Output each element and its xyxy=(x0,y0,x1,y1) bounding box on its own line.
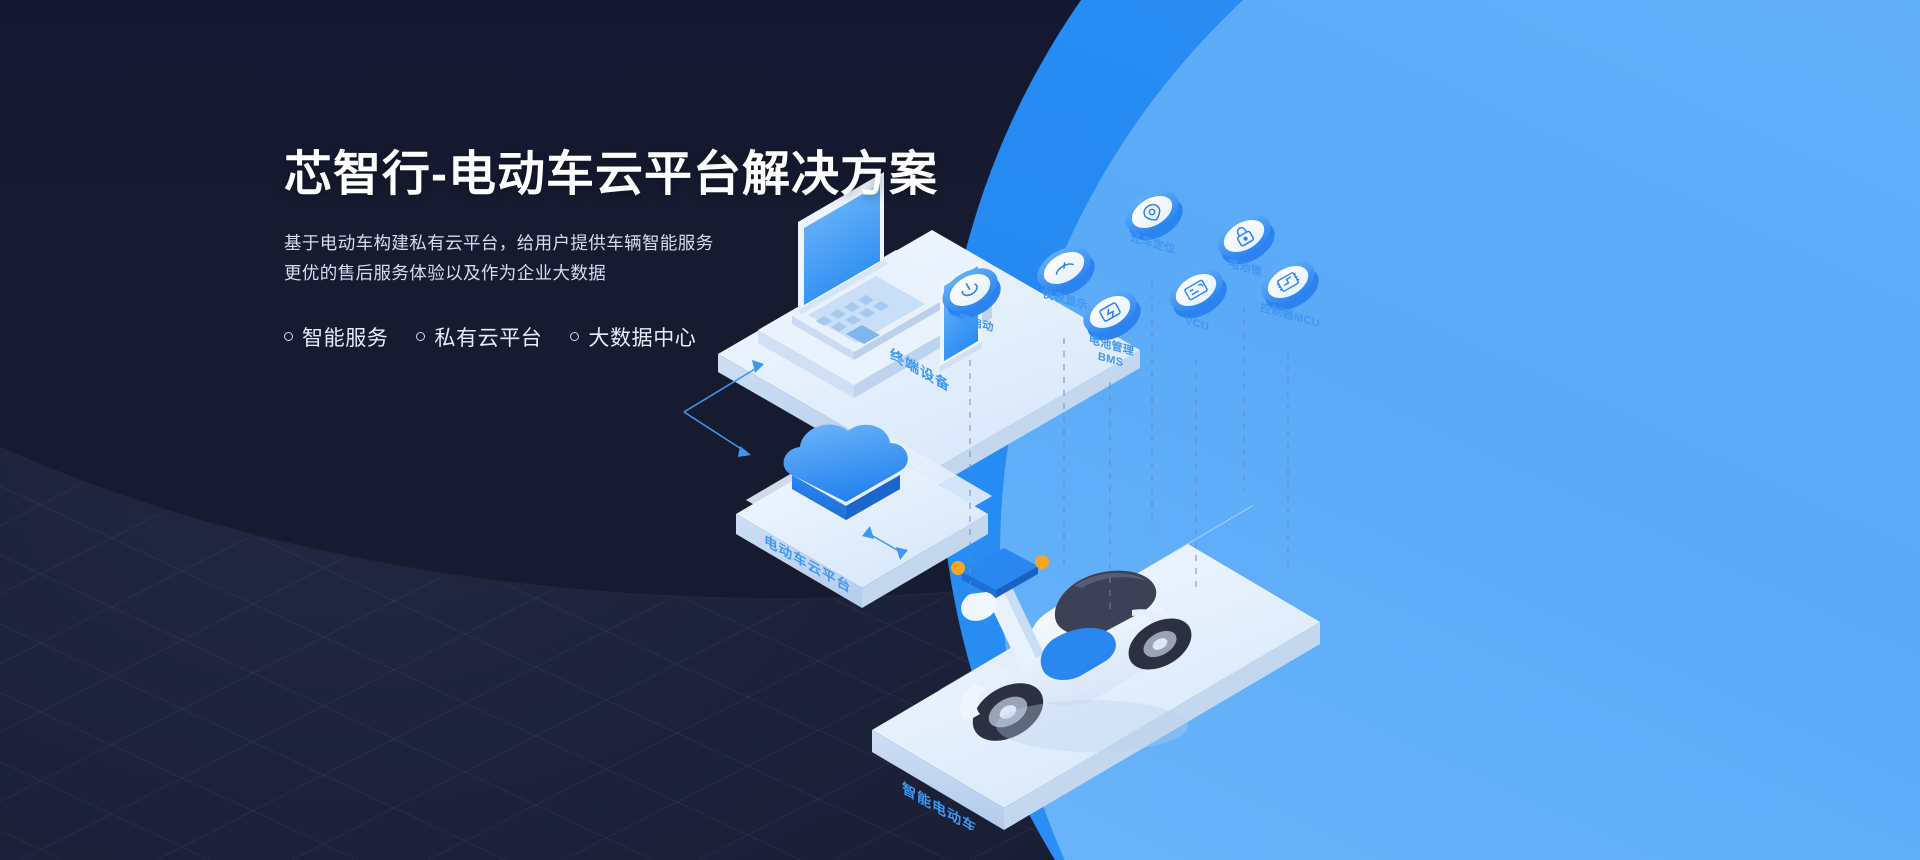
circle-bullet-icon xyxy=(570,332,579,341)
solution-banner: 芯智行-电动车云平台解决方案 基于电动车构建私有云平台，给用户提供车辆智能服务 … xyxy=(0,0,1920,860)
bullet-item-private-cloud: 私有云平台 xyxy=(416,322,542,352)
circle-bullet-icon xyxy=(416,332,425,341)
subtitle-line-2: 更优的售后服务体验以及作为企业大数据 xyxy=(284,258,984,288)
bullet-label: 智能服务 xyxy=(302,322,388,352)
circle-bullet-icon xyxy=(284,332,293,341)
bullet-label: 大数据中心 xyxy=(588,322,696,352)
feature-bullet-list: 智能服务 私有云平台 大数据中心 xyxy=(284,322,984,352)
bullet-item-big-data-center: 大数据中心 xyxy=(570,322,696,352)
bullet-label: 私有云平台 xyxy=(434,322,542,352)
page-title: 芯智行-电动车云平台解决方案 xyxy=(284,148,984,202)
banner-copy: 芯智行-电动车云平台解决方案 基于电动车构建私有云平台，给用户提供车辆智能服务 … xyxy=(284,148,984,368)
bullet-item-smart-service: 智能服务 xyxy=(284,322,388,352)
subtitle-line-1: 基于电动车构建私有云平台，给用户提供车辆智能服务 xyxy=(284,228,984,258)
banner-subtitle: 基于电动车构建私有云平台，给用户提供车辆智能服务 更优的售后服务体验以及作为企业… xyxy=(284,228,984,288)
